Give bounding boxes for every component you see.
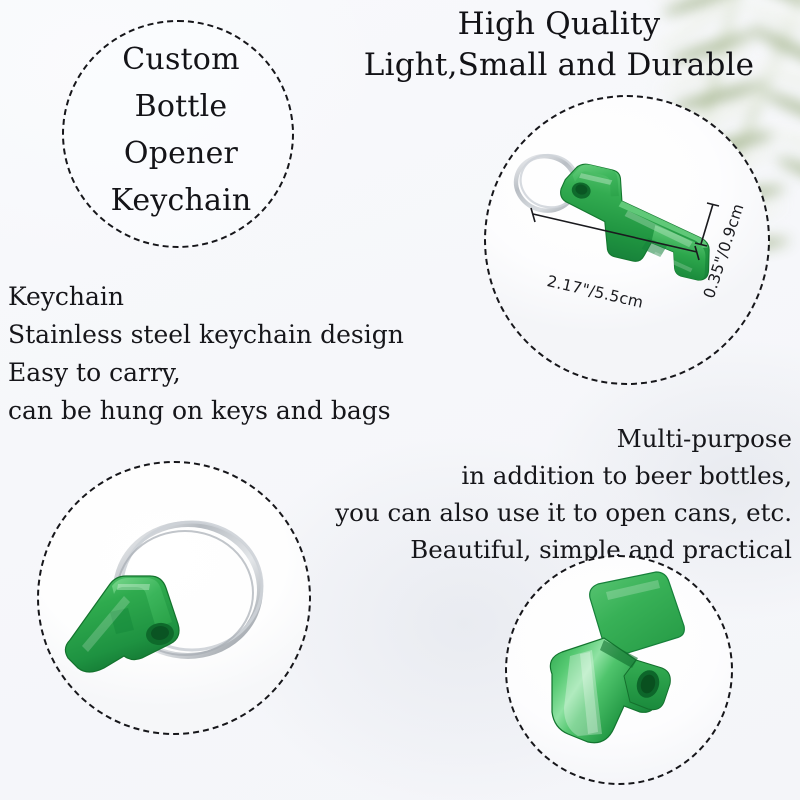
bottom-left-photo-dashed-border xyxy=(37,461,311,735)
headline: High Quality Light,Small and Durable xyxy=(324,4,794,86)
title-line-1: Custom xyxy=(56,36,306,83)
right-copy-line-3: you can also use it to open cans, etc. xyxy=(322,494,792,531)
headline-line-2: Light,Small and Durable xyxy=(324,45,794,86)
left-copy-line-1: Keychain xyxy=(8,278,478,316)
title-line-3: Opener xyxy=(56,130,306,177)
title-badge-text: Custom Bottle Opener Keychain xyxy=(56,36,306,224)
right-feature-copy: Multi-purpose in addition to beer bottle… xyxy=(322,420,792,568)
bottom-right-photo-dashed-border xyxy=(505,555,733,785)
left-copy-line-2: Stainless steel keychain design xyxy=(8,316,478,354)
product-infographic: Custom Bottle Opener Keychain High Quali… xyxy=(0,0,800,800)
right-copy-line-1: Multi-purpose xyxy=(322,420,792,457)
headline-line-1: High Quality xyxy=(324,4,794,45)
left-feature-copy: Keychain Stainless steel keychain design… xyxy=(8,278,478,430)
right-copy-line-2: in addition to beer bottles, xyxy=(322,457,792,494)
title-line-4: Keychain xyxy=(56,177,306,224)
left-copy-line-3: Easy to carry, xyxy=(8,354,478,392)
title-line-2: Bottle xyxy=(56,83,306,130)
